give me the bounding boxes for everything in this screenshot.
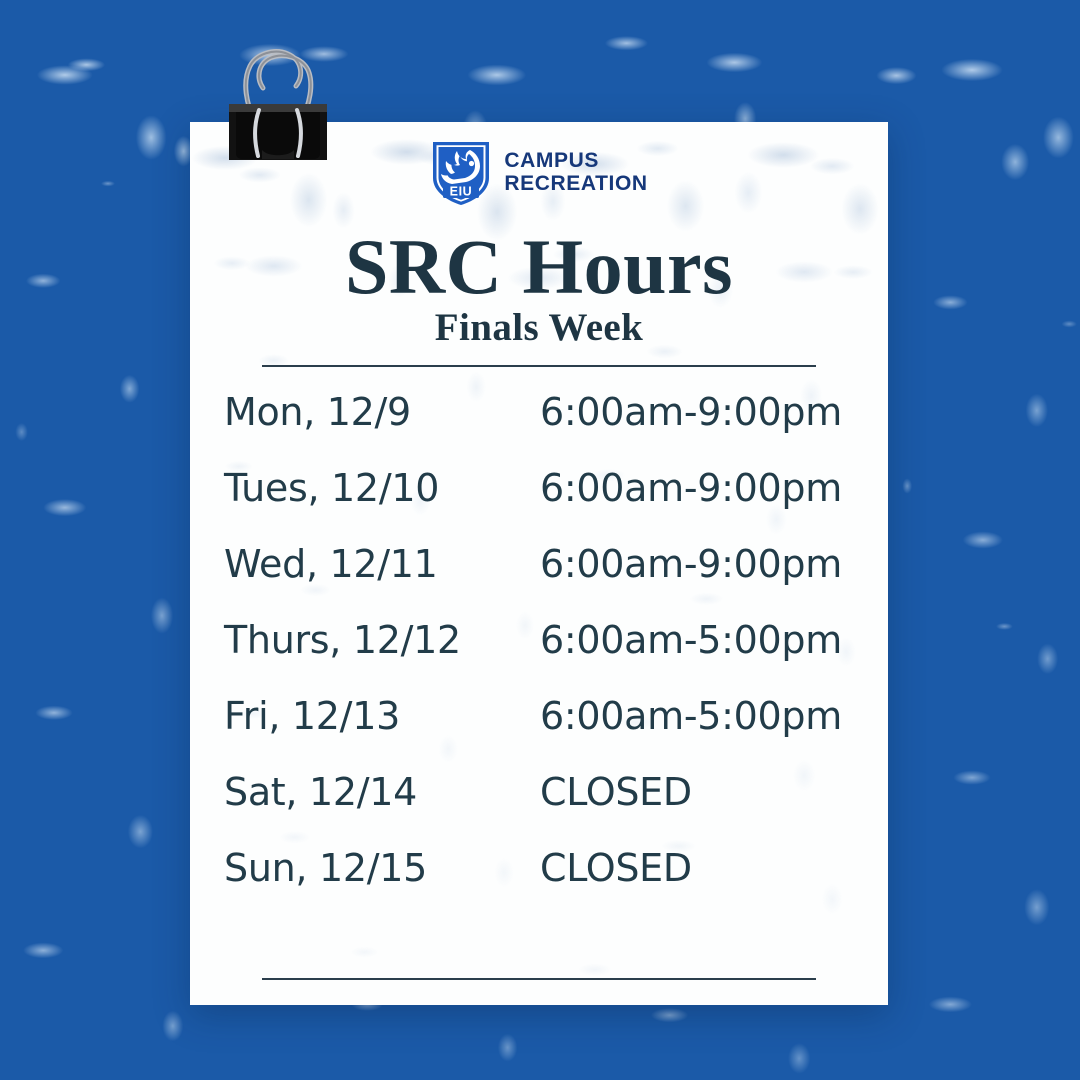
schedule-day: Fri, 12/13: [224, 694, 540, 738]
schedule-hours: 6:00am-9:00pm: [540, 466, 854, 510]
schedule-hours: CLOSED: [540, 770, 854, 814]
poster-canvas: EIU CAMPUS RECREATION SRC Hours Finals W…: [0, 0, 1080, 1080]
schedule-day: Wed, 12/11: [224, 542, 540, 586]
table-row: Sat, 12/14 CLOSED: [224, 770, 854, 846]
schedule-day: Thurs, 12/12: [224, 618, 540, 662]
logo-wordmark: CAMPUS RECREATION: [504, 150, 647, 195]
table-row: Sun, 12/15 CLOSED: [224, 846, 854, 922]
logo-wordmark-line2: RECREATION: [504, 173, 647, 196]
divider-top: [262, 365, 816, 367]
schedule-hours: 6:00am-9:00pm: [540, 542, 854, 586]
logo-wordmark-line1: CAMPUS: [504, 150, 647, 173]
schedule-day: Mon, 12/9: [224, 390, 540, 434]
table-row: Fri, 12/13 6:00am-5:00pm: [224, 694, 854, 770]
divider-bottom: [262, 978, 816, 980]
table-row: Thurs, 12/12 6:00am-5:00pm: [224, 618, 854, 694]
card-content: EIU CAMPUS RECREATION SRC Hours Finals W…: [190, 122, 888, 1005]
schedule-day: Sat, 12/14: [224, 770, 540, 814]
eiu-panther-shield-icon: EIU: [430, 138, 492, 208]
schedule-day: Tues, 12/10: [224, 466, 540, 510]
page-title: SRC Hours: [190, 222, 888, 312]
schedule-hours: CLOSED: [540, 846, 854, 890]
table-row: Wed, 12/11 6:00am-9:00pm: [224, 542, 854, 618]
hours-schedule-list: Mon, 12/9 6:00am-9:00pm Tues, 12/10 6:00…: [224, 390, 854, 922]
page-subtitle: Finals Week: [190, 305, 888, 350]
schedule-hours: 6:00am-9:00pm: [540, 390, 854, 434]
schedule-hours: 6:00am-5:00pm: [540, 694, 854, 738]
table-row: Mon, 12/9 6:00am-9:00pm: [224, 390, 854, 466]
schedule-hours: 6:00am-5:00pm: [540, 618, 854, 662]
svg-text:EIU: EIU: [450, 185, 473, 199]
schedule-day: Sun, 12/15: [224, 846, 540, 890]
binder-clip-icon: [216, 38, 340, 166]
hours-flyer-card: EIU CAMPUS RECREATION SRC Hours Finals W…: [190, 122, 888, 1005]
table-row: Tues, 12/10 6:00am-9:00pm: [224, 466, 854, 542]
